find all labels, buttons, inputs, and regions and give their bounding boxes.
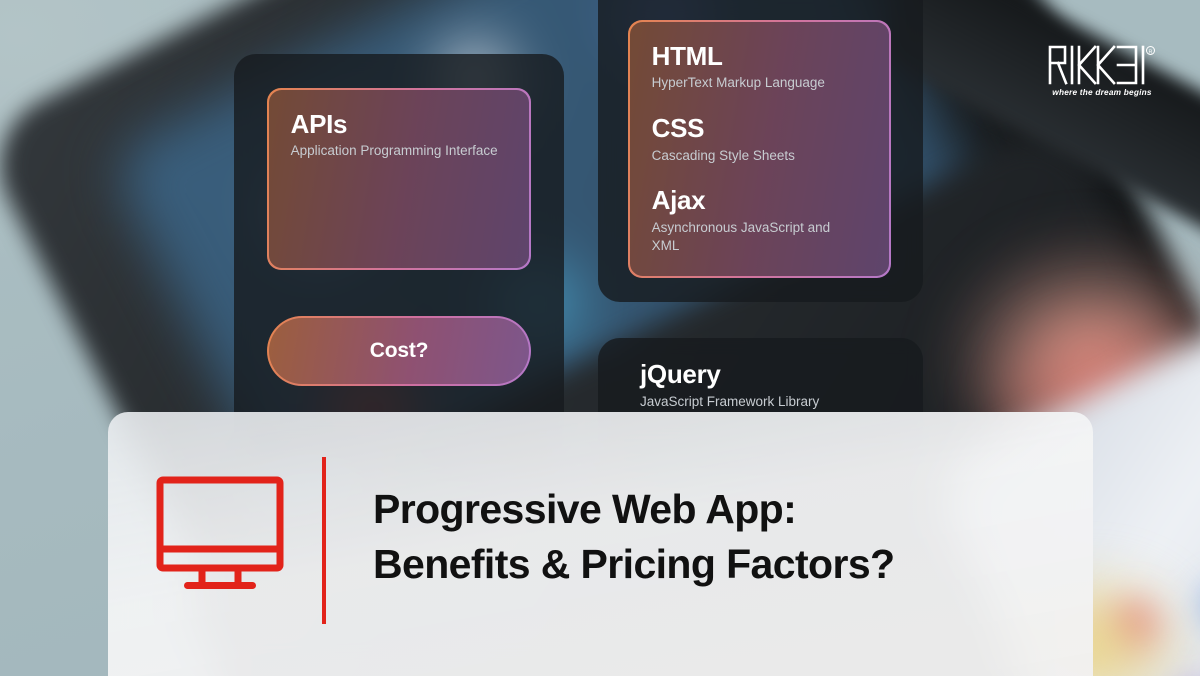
term-apis: APIs Application Programming Interface	[291, 110, 508, 160]
page-title: Progressive Web App: Benefits & Pricing …	[373, 482, 894, 591]
card-apis: APIs Application Programming Interface C…	[234, 54, 564, 474]
term-title: APIs	[291, 110, 508, 139]
term-title: jQuery	[640, 360, 923, 389]
cost-pill-button[interactable]: Cost?	[267, 316, 531, 386]
svg-text:R: R	[1149, 49, 1153, 55]
rikkei-wordmark-icon: R	[1048, 44, 1156, 86]
term-subtitle: Cascading Style Sheets	[652, 147, 868, 165]
cost-pill-label: Cost?	[370, 339, 429, 363]
term-subtitle: JavaScript Framework Library	[640, 393, 820, 411]
term-box-apis: APIs Application Programming Interface	[267, 88, 531, 270]
term-html: HTML HyperText Markup Language	[652, 42, 868, 92]
monitor-icon	[155, 475, 285, 593]
term-title: Ajax	[652, 186, 868, 215]
term-title: HTML	[652, 42, 868, 71]
logo-tagline: where the dream begins	[1048, 87, 1156, 97]
card-web-stack: HTML HyperText Markup Language CSS Casca…	[598, 0, 923, 302]
term-title: CSS	[652, 114, 868, 143]
term-css: CSS Cascading Style Sheets	[652, 114, 868, 164]
term-jquery: jQuery JavaScript Framework Library	[640, 360, 923, 410]
term-subtitle: Asynchronous JavaScript and XML	[652, 219, 837, 255]
term-box-web-stack: HTML HyperText Markup Language CSS Casca…	[628, 20, 891, 278]
term-ajax: Ajax Asynchronous JavaScript and XML	[652, 186, 868, 254]
red-divider	[322, 457, 326, 624]
term-subtitle: HyperText Markup Language	[652, 74, 868, 92]
term-subtitle: Application Programming Interface	[291, 142, 508, 160]
rikkei-logo: R where the dream begins	[1048, 44, 1156, 97]
title-panel: Progressive Web App: Benefits & Pricing …	[108, 412, 1093, 676]
